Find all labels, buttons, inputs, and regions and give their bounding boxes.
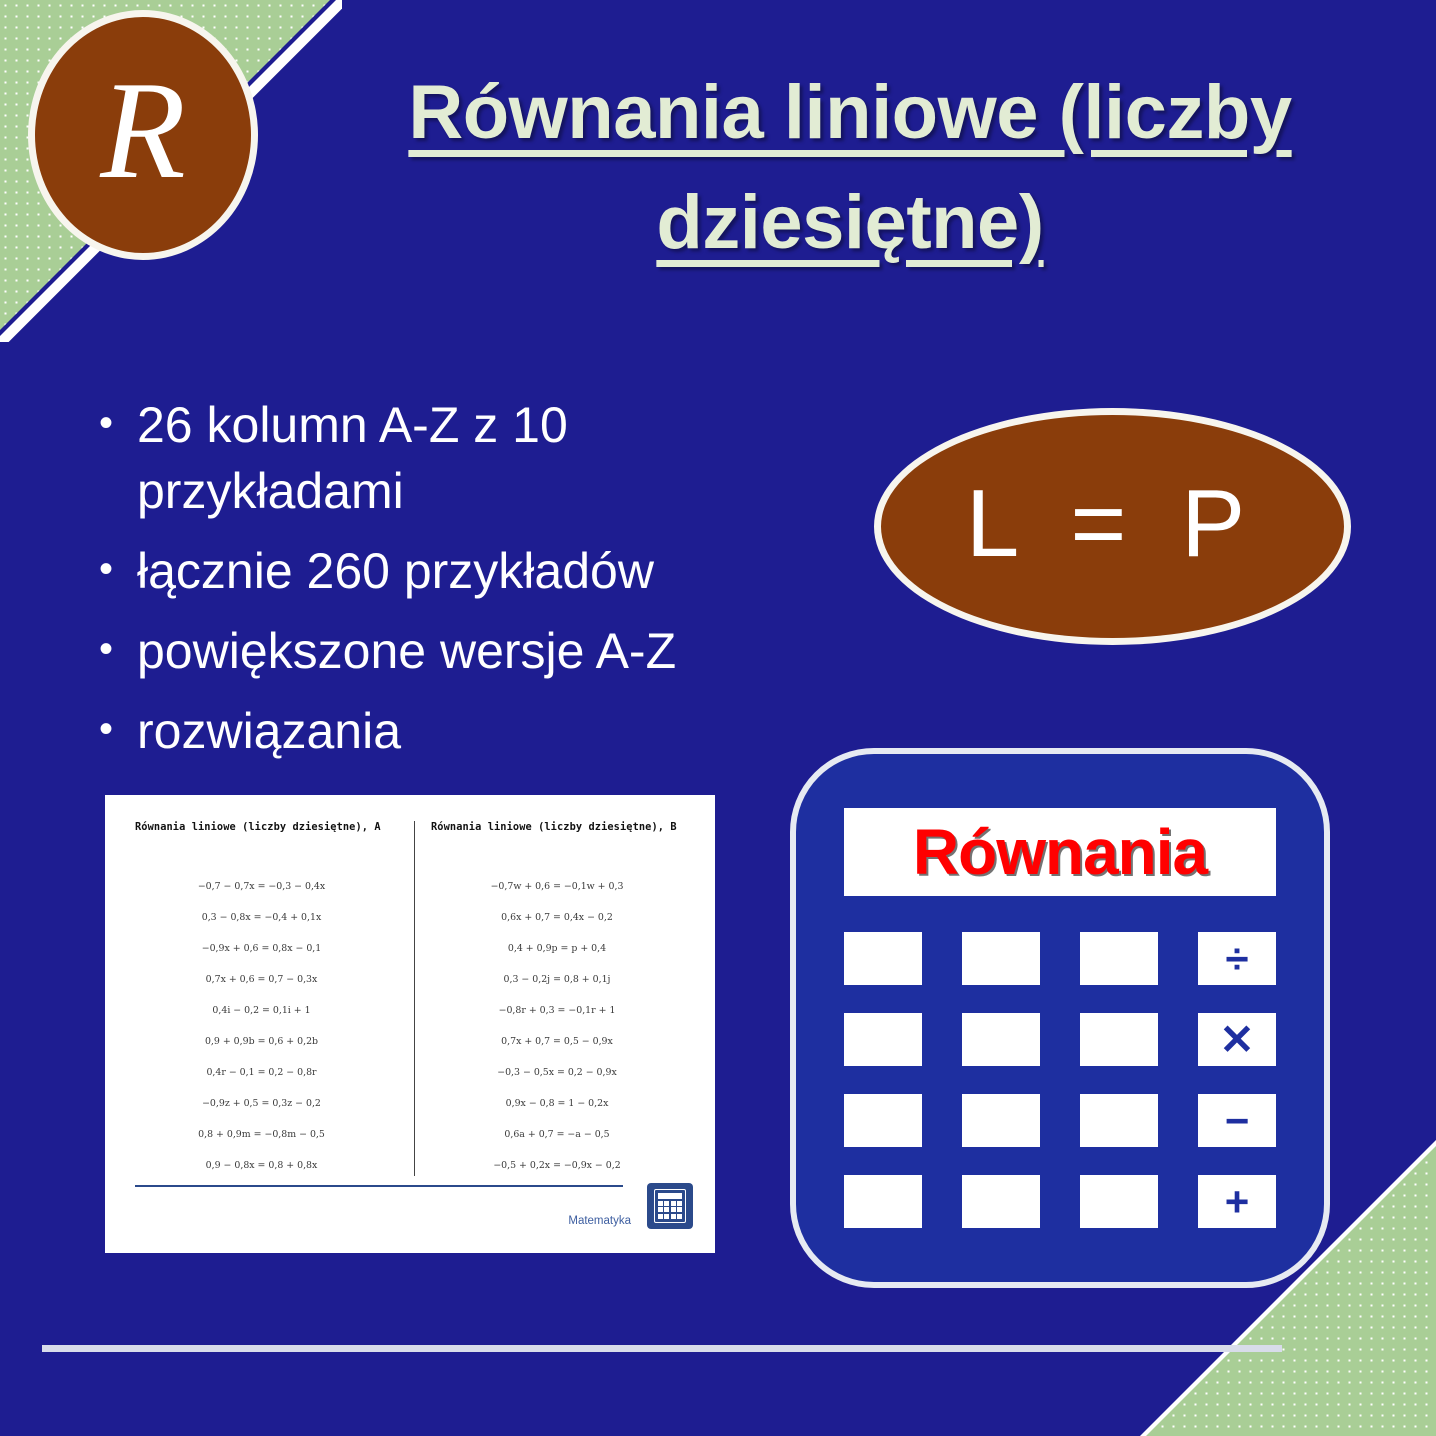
page-title: Równania liniowe (liczby dziesiętne) bbox=[350, 58, 1350, 278]
list-item: • łącznie 260 przykładów bbox=[75, 538, 835, 604]
worksheet-equation: 0,7x + 0,7 = 0,5 − 0,9x bbox=[431, 1036, 693, 1047]
calc-key-blank-4[interactable] bbox=[844, 1013, 922, 1066]
calculator-display: Równania bbox=[844, 808, 1276, 896]
worksheet-equation: 0,4i − 0,2 = 0,1i + 1 bbox=[135, 1005, 414, 1016]
calculator-icon-body bbox=[654, 1189, 686, 1223]
calculator-graphic: Równania ÷ ✕ − + bbox=[790, 748, 1330, 1288]
logo-letter: R bbox=[100, 61, 186, 201]
calc-key-blank-1[interactable] bbox=[844, 932, 922, 985]
calc-key-blank-8[interactable] bbox=[962, 1094, 1040, 1147]
calc-key-minus[interactable]: − bbox=[1198, 1094, 1276, 1147]
logo-badge: R bbox=[28, 10, 258, 260]
worksheet-columns: Równania liniowe (liczby dziesiętne), A … bbox=[135, 821, 693, 1191]
calculator-icon-keys bbox=[658, 1201, 682, 1219]
worksheet-column-b: Równania liniowe (liczby dziesiętne), B … bbox=[414, 821, 693, 1176]
worksheet-column-a-heading: Równania liniowe (liczby dziesiętne), A bbox=[135, 821, 414, 833]
calculator-icon bbox=[647, 1183, 693, 1229]
calculator-icon-key bbox=[677, 1207, 682, 1212]
calculator-icon-key bbox=[671, 1201, 676, 1206]
worksheet-equation: −0,7 − 0,7x = −0,3 − 0,4x bbox=[135, 881, 414, 892]
calculator-icon-key bbox=[658, 1201, 663, 1206]
list-item-label: łącznie 260 przykładów bbox=[137, 538, 835, 604]
calc-key-blank-10[interactable] bbox=[844, 1175, 922, 1228]
calc-key-blank-11[interactable] bbox=[962, 1175, 1040, 1228]
worksheet-equation: −0,3 − 0,5x = 0,2 − 0,9x bbox=[431, 1067, 693, 1078]
calculator-icon-key bbox=[677, 1214, 682, 1219]
worksheet-column-a: Równania liniowe (liczby dziesiętne), A … bbox=[135, 821, 414, 1191]
calc-key-blank-6[interactable] bbox=[1080, 1013, 1158, 1066]
calculator-icon-key bbox=[671, 1214, 676, 1219]
calculator-icon-key bbox=[664, 1214, 669, 1219]
worksheet-equation: 0,4r − 0,1 = 0,2 − 0,8r bbox=[135, 1067, 414, 1078]
calc-key-blank-7[interactable] bbox=[844, 1094, 922, 1147]
equality-badge-label: L = P bbox=[966, 469, 1259, 579]
calc-key-blank-12[interactable] bbox=[1080, 1175, 1158, 1228]
worksheet-equation: 0,8 + 0,9m = −0,8m − 0,5 bbox=[135, 1129, 414, 1140]
bullet-dot-icon: • bbox=[75, 618, 137, 680]
calc-key-plus[interactable]: + bbox=[1198, 1175, 1276, 1228]
worksheet-equation: 0,9 + 0,9b = 0,6 + 0,2b bbox=[135, 1036, 414, 1047]
slide-canvas: R Równania liniowe (liczby dziesiętne) •… bbox=[0, 0, 1436, 1436]
calculator-keypad: ÷ ✕ − + bbox=[844, 932, 1276, 1228]
worksheet-equation: 0,9 − 0,8x = 0,8 + 0,8x bbox=[135, 1160, 414, 1171]
list-item-label: rozwiązania bbox=[137, 698, 835, 764]
calculator-display-text: Równania bbox=[913, 815, 1207, 889]
calculator-icon-key bbox=[658, 1214, 663, 1219]
calculator-icon-screen bbox=[658, 1193, 682, 1199]
worksheet-equation: −0,8r + 0,3 = −0,1r + 1 bbox=[431, 1005, 693, 1016]
worksheet-equation: 0,6x + 0,7 = 0,4x − 0,2 bbox=[431, 912, 693, 923]
bullet-dot-icon: • bbox=[75, 538, 137, 600]
calculator-icon-key bbox=[677, 1201, 682, 1206]
worksheet-equation: −0,5 + 0,2x = −0,9x − 0,2 bbox=[431, 1160, 693, 1171]
worksheet-equation: 0,3 − 0,2j = 0,8 + 0,1j bbox=[431, 974, 693, 985]
worksheet-column-b-heading: Równania liniowe (liczby dziesiętne), B bbox=[431, 821, 693, 833]
calculator-icon-key bbox=[658, 1207, 663, 1212]
list-item: • rozwiązania bbox=[75, 698, 835, 764]
calc-key-blank-2[interactable] bbox=[962, 932, 1040, 985]
worksheet-preview: Równania liniowe (liczby dziesiętne), A … bbox=[105, 795, 715, 1253]
worksheet-footer-label: Matematyka bbox=[135, 1215, 647, 1229]
calc-key-divide[interactable]: ÷ bbox=[1198, 932, 1276, 985]
calc-key-blank-3[interactable] bbox=[1080, 932, 1158, 985]
equality-badge: L = P bbox=[874, 408, 1351, 645]
calculator-icon-key bbox=[671, 1207, 676, 1212]
bullet-dot-icon: • bbox=[75, 698, 137, 760]
list-item-label: 26 kolumn A-Z z 10 przykładami bbox=[137, 392, 835, 524]
list-item: • 26 kolumn A-Z z 10 przykładami bbox=[75, 392, 835, 524]
calculator-icon-key bbox=[664, 1207, 669, 1212]
worksheet-equation: −0,9x + 0,6 = 0,8x − 0,1 bbox=[135, 943, 414, 954]
bottom-divider bbox=[42, 1345, 1282, 1352]
list-item-label: powiększone wersje A-Z bbox=[137, 618, 835, 684]
worksheet-equation: 0,9x − 0,8 = 1 − 0,2x bbox=[431, 1098, 693, 1109]
worksheet-equation: −0,7w + 0,6 = −0,1w + 0,3 bbox=[431, 881, 693, 892]
worksheet-equation: 0,6a + 0,7 = −a − 0,5 bbox=[431, 1129, 693, 1140]
worksheet-equation: 0,3 − 0,8x = −0,4 + 0,1x bbox=[135, 912, 414, 923]
bullet-dot-icon: • bbox=[75, 392, 137, 454]
worksheet-equation: −0,9z + 0,5 = 0,3z − 0,2 bbox=[135, 1098, 414, 1109]
worksheet-equation: 0,7x + 0,6 = 0,7 − 0,3x bbox=[135, 974, 414, 985]
feature-bullet-list: • 26 kolumn A-Z z 10 przykładami • łączn… bbox=[75, 392, 835, 778]
worksheet-equation: 0,4 + 0,9p = p + 0,4 bbox=[431, 943, 693, 954]
list-item: • powiększone wersje A-Z bbox=[75, 618, 835, 684]
calculator-icon-key bbox=[664, 1201, 669, 1206]
calc-key-blank-9[interactable] bbox=[1080, 1094, 1158, 1147]
calc-key-blank-5[interactable] bbox=[962, 1013, 1040, 1066]
worksheet-footer: Matematyka bbox=[135, 1183, 693, 1229]
calc-key-multiply[interactable]: ✕ bbox=[1198, 1013, 1276, 1066]
